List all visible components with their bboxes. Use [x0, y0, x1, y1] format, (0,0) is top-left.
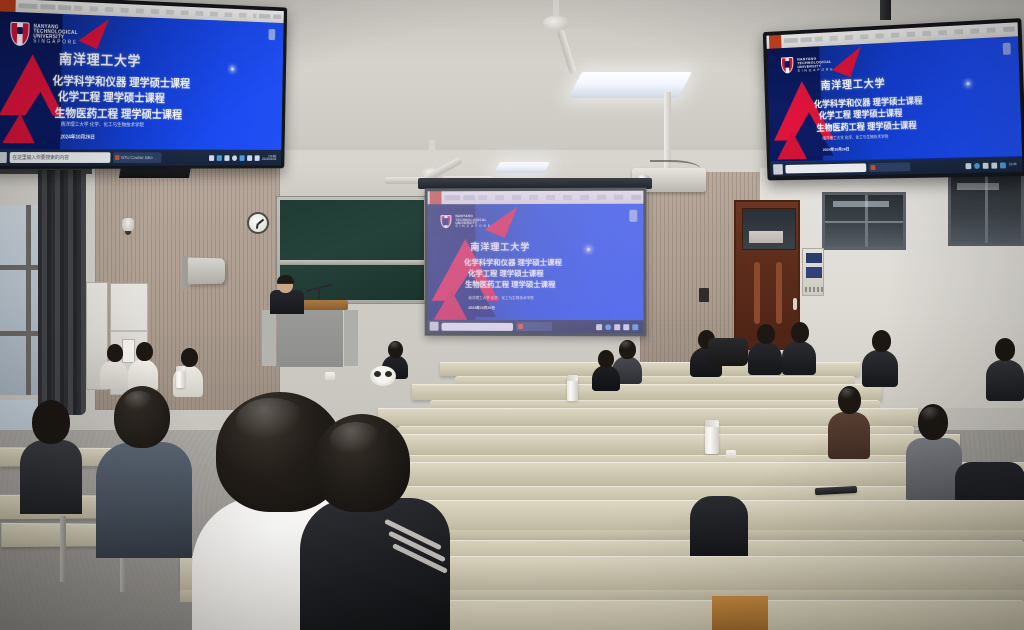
mouse-pointer-icon — [587, 248, 590, 251]
clock-date: 2024/10/26 — [262, 158, 276, 161]
door-panel-groove — [754, 262, 760, 324]
av-control-panel[interactable] — [802, 248, 824, 296]
right-wall-tv: NANYANG TECHNOLOGICAL UNIVERSITY SINGAPO… — [763, 18, 1024, 180]
desk-leg — [60, 516, 66, 582]
student-right-back-2 — [748, 324, 782, 374]
slide-title: 南洋理工大学 — [470, 240, 530, 253]
lecturer-presenter — [270, 276, 304, 312]
windows-taskbar-left-tv[interactable]: 在这里输入你要搜索的内容 NTU Course Intro 13:46 — [0, 149, 281, 166]
desk-row-2 — [412, 384, 882, 400]
student-right-edge — [986, 338, 1024, 400]
chevron-up-icon[interactable] — [209, 155, 214, 161]
slide-triangle-red-small — [434, 290, 468, 320]
control-panel-screen-top — [806, 253, 822, 263]
dark-curtain[interactable] — [38, 170, 86, 415]
system-tray[interactable]: 13:46 — [965, 162, 1019, 169]
slide-title: 南洋理工大学 — [820, 75, 885, 93]
slide-corner-badge — [629, 209, 637, 221]
start-button[interactable] — [430, 322, 439, 331]
projection-screen: NANYANG TECHNOLOGICAL UNIVERSITY SINGAPO… — [425, 188, 647, 337]
wall-socket — [699, 288, 709, 302]
slide-triangle-red-small — [2, 114, 35, 144]
slide-triangle-red-top — [832, 40, 861, 78]
slide-date: 2024年10月26日 — [468, 306, 495, 311]
cloud-icon[interactable] — [240, 155, 245, 161]
windows-taskbar-projected — [428, 320, 644, 333]
taskbar-search-input[interactable] — [441, 322, 513, 330]
thermos-bottle-mid — [567, 375, 578, 401]
slide-program-2: 化学工程 理学硕士课程 — [58, 90, 190, 108]
network-icon[interactable] — [224, 155, 229, 161]
student-right-mid-brown — [828, 386, 870, 458]
slide-triangle-red-top — [78, 12, 109, 49]
taskbar-app-powerpoint[interactable]: NTU Course Intro — [113, 152, 161, 163]
start-button[interactable] — [773, 164, 782, 174]
bench-edge-wood — [712, 596, 768, 630]
cabinet-seam — [110, 330, 148, 332]
fluorescent-light-front — [494, 162, 550, 173]
system-tray[interactable]: 13:46 2024/10/26 — [209, 154, 279, 161]
interior-window-left — [822, 192, 906, 250]
thermos-bottle-center — [705, 420, 719, 454]
clock-time: 13:46 — [1009, 163, 1017, 167]
paper-cup-left — [325, 372, 335, 380]
student-left-foreground-blue — [96, 386, 192, 556]
student-far-left — [20, 400, 82, 512]
taskbar-app-label: NTU Course Intro — [121, 155, 153, 160]
control-panel-label — [805, 287, 823, 292]
door-panel-groove — [776, 262, 782, 324]
door-handle[interactable] — [793, 298, 797, 310]
student-right-foreground — [690, 464, 748, 554]
slide-program-1: 化学科学和仪器 理学硕士课程 — [464, 258, 562, 269]
ntu-logo: NANYANG TECHNOLOGICAL UNIVERSITY SINGAPO… — [440, 215, 492, 228]
panda-backpack — [370, 366, 396, 386]
system-tray[interactable] — [596, 324, 641, 330]
student-right-back-4 — [862, 330, 898, 386]
taskbar-clock[interactable]: 13:46 2024/10/26 — [262, 154, 276, 161]
ime-icon[interactable] — [255, 155, 260, 161]
slide-title: 南洋理工大学 — [59, 49, 141, 71]
ntu-logo-line4: SINGAPORE — [455, 225, 492, 228]
ntu-crest-icon — [781, 57, 794, 74]
slide-footer: 南洋理工大学 化学、化工与生物技术学院 — [468, 296, 533, 301]
backpack-on-desk — [708, 338, 748, 366]
slide-date: 2024年10月26日 — [823, 147, 850, 153]
slide-corner-badge — [1002, 42, 1010, 54]
powerpoint-ribbon-projected — [428, 191, 644, 204]
podium-side-right — [344, 310, 358, 366]
student-left-back-2 — [128, 342, 158, 390]
mouse-pointer-icon — [967, 82, 970, 85]
slide-program-3: 生物医药工程 理学硕士课程 — [816, 119, 923, 134]
taskbar-search-input[interactable]: 在这里输入你要搜索的内容 — [9, 152, 110, 162]
wall-lamp — [122, 218, 134, 232]
student-mid-center-2 — [592, 350, 620, 390]
start-button[interactable] — [0, 152, 7, 164]
ntu-crest-icon — [440, 216, 451, 229]
student-right-back-3 — [782, 322, 816, 374]
slide-footer: 南洋理工大学 化学、化工与生物技术学院 — [61, 121, 144, 129]
ntu-logo: NANYANG TECHNOLOGICAL UNIVERSITY SINGAPO… — [10, 22, 78, 48]
taskbar-app-powerpoint[interactable] — [868, 162, 910, 172]
ntu-crest-icon — [10, 22, 30, 46]
podium-side-left — [262, 310, 276, 366]
right-tv-ceiling-mount — [880, 0, 891, 20]
ntu-logo: NANYANG TECHNOLOGICAL UNIVERSITY SINGAPO… — [781, 55, 834, 74]
student-left-back-1 — [100, 344, 128, 388]
lecturer-torso — [270, 290, 304, 314]
door-window — [742, 208, 796, 250]
lecture-hall-photo: NANYANG TECHNOLOGICAL UNIVERSITY SINGAPO… — [0, 0, 1024, 630]
lecturer-glasses-icon — [279, 283, 292, 286]
interior-window-right — [948, 172, 1024, 246]
paper-cup — [726, 450, 736, 458]
mouse-pointer-icon — [232, 68, 235, 71]
control-panel-screen-bottom — [806, 267, 822, 278]
slide-corner-badge — [269, 29, 276, 40]
chalkboard-rail — [280, 260, 424, 265]
fluorescent-light-rear — [568, 72, 692, 98]
slide-program-3: 生物医药工程 理学硕士课程 — [465, 280, 562, 291]
slide-date: 2024年10月26日 — [60, 133, 95, 140]
onedrive-icon[interactable] — [217, 155, 222, 161]
taskbar-app-powerpoint[interactable] — [516, 322, 552, 331]
slide-program-2: 化学工程 理学硕士课程 — [468, 269, 562, 280]
volume-icon[interactable] — [232, 155, 237, 161]
slide-footer: 南洋理工大学 化学、化工与生物技术学院 — [822, 134, 888, 142]
left-wall-tv: NANYANG TECHNOLOGICAL UNIVERSITY SINGAPO… — [0, 0, 287, 169]
slide-triangle-red-small — [777, 131, 808, 160]
student-foreground-black-jacket — [300, 414, 450, 630]
ntu-logo-line4: SINGAPORE — [33, 40, 78, 46]
wall-clock — [247, 212, 269, 234]
taskbar-search-input[interactable] — [785, 163, 866, 173]
lectern-podium — [277, 307, 343, 367]
wall-speaker — [188, 258, 225, 285]
battery-icon[interactable] — [247, 155, 252, 161]
ntu-logo-line4: SINGAPORE — [797, 67, 834, 73]
student-right-mid-gray — [906, 404, 962, 500]
thermos-bottle-left — [176, 366, 185, 388]
